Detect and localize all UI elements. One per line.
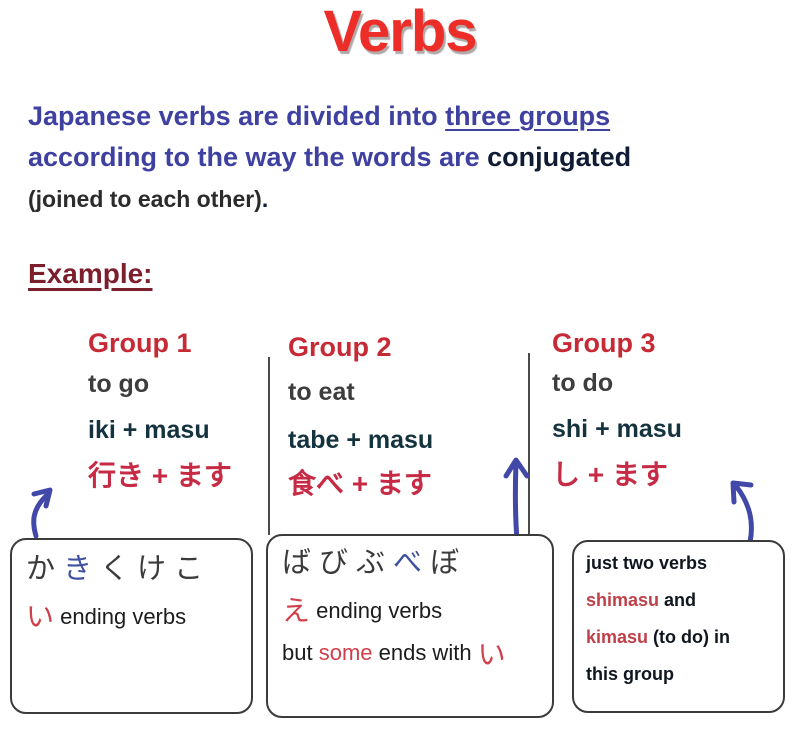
intro-line3-period: . (262, 186, 268, 212)
group-3-detail-box: just two verbs shimasu and kimasu (to do… (572, 540, 785, 713)
box-3-line-2: shimasu and (586, 590, 696, 612)
box-2-kana-4: ぼ (430, 547, 467, 579)
group-1-romaji: iki + masu (88, 415, 232, 445)
box-3-line-2-rest: and (659, 590, 696, 610)
intro-line3: (joined to each other). (28, 186, 268, 212)
box-3-kimasu: kimasu (586, 627, 648, 647)
group-column-3: Group 3 to do shi + masu し + ます (552, 326, 682, 492)
group-2-meaning: to eat (288, 377, 433, 407)
group-2-kana: 食べ + ます (288, 467, 433, 501)
box-2-ending-kana: え (282, 595, 310, 626)
box-2-note-kana: い (478, 639, 506, 670)
box-3-shimasu: shimasu (586, 590, 659, 610)
group-1-kana: 行き + ます (88, 459, 232, 493)
intro-line3-text: (joined to each other) (28, 186, 262, 212)
group-2-title: Group 2 (288, 330, 433, 364)
group-2-detail-box: ばびぶべぼ え ending verbs but some ends with … (266, 534, 554, 718)
box-1-kana-1: き (63, 553, 100, 585)
box-2-note-line: but some ends with い (282, 638, 506, 672)
box-1-kana-4: こ (174, 553, 211, 585)
page-title: Verbs (0, 2, 800, 63)
box-1-ending-text: ending verbs (60, 604, 186, 629)
box-2-note-a: but (282, 640, 319, 665)
group-1-title: Group 1 (88, 326, 232, 360)
group-3-title: Group 3 (552, 326, 682, 360)
intro-paragraph: Japanese verbs are divided into three gr… (28, 96, 778, 220)
box-2-note-some: some (319, 640, 373, 665)
box-3-line-3-rest: (to do) in (648, 627, 730, 647)
box-3-line-1: just two verbs (586, 553, 707, 575)
box-3-line-4: this group (586, 664, 674, 686)
intro-line1-text: Japanese verbs are divided into (28, 101, 445, 131)
box-2-kana-2: ぶ (356, 547, 393, 579)
arrow-up-right-icon (16, 478, 60, 543)
column-divider-1 (268, 357, 270, 535)
group-3-kana: し + ます (552, 458, 682, 492)
box-1-kana-row: かきくけこ (26, 552, 211, 587)
box-2-ending-line: え ending verbs (282, 594, 442, 628)
box-2-ending-text: ending verbs (316, 598, 442, 623)
group-column-2: Group 2 to eat tabe + masu 食べ + ます (288, 330, 433, 501)
group-1-meaning: to go (88, 369, 232, 399)
box-2-note-b: ends with (373, 640, 478, 665)
box-2-kana-row: ばびぶべぼ (282, 546, 467, 581)
group-2-romaji: tabe + masu (288, 425, 433, 455)
box-1-ending-line: い ending verbs (26, 600, 186, 634)
box-2-kana-3: べ (393, 547, 430, 579)
box-2-kana-0: ば (282, 547, 319, 579)
intro-line2-text: according to the way the words are (28, 142, 487, 172)
intro-three-groups-underlined: three groups (445, 101, 610, 131)
group-3-romaji: shi + masu (552, 414, 682, 444)
box-3-line-3: kimasu (to do) in (586, 627, 730, 649)
example-heading: Example: (28, 258, 153, 290)
box-1-kana-0: か (26, 553, 63, 585)
arrow-up-icon (498, 450, 534, 547)
group-1-detail-box: かきくけこ い ending verbs (10, 538, 253, 714)
box-2-kana-1: び (319, 547, 356, 579)
intro-conjugated-emphasis: conjugated (487, 142, 631, 172)
arrow-up-left-icon (716, 470, 768, 549)
group-column-1: Group 1 to go iki + masu 行き + ます (88, 326, 232, 493)
box-1-ending-kana: い (26, 601, 54, 632)
box-1-kana-3: け (137, 553, 174, 585)
box-1-kana-2: く (100, 553, 137, 585)
group-3-meaning: to do (552, 368, 682, 398)
